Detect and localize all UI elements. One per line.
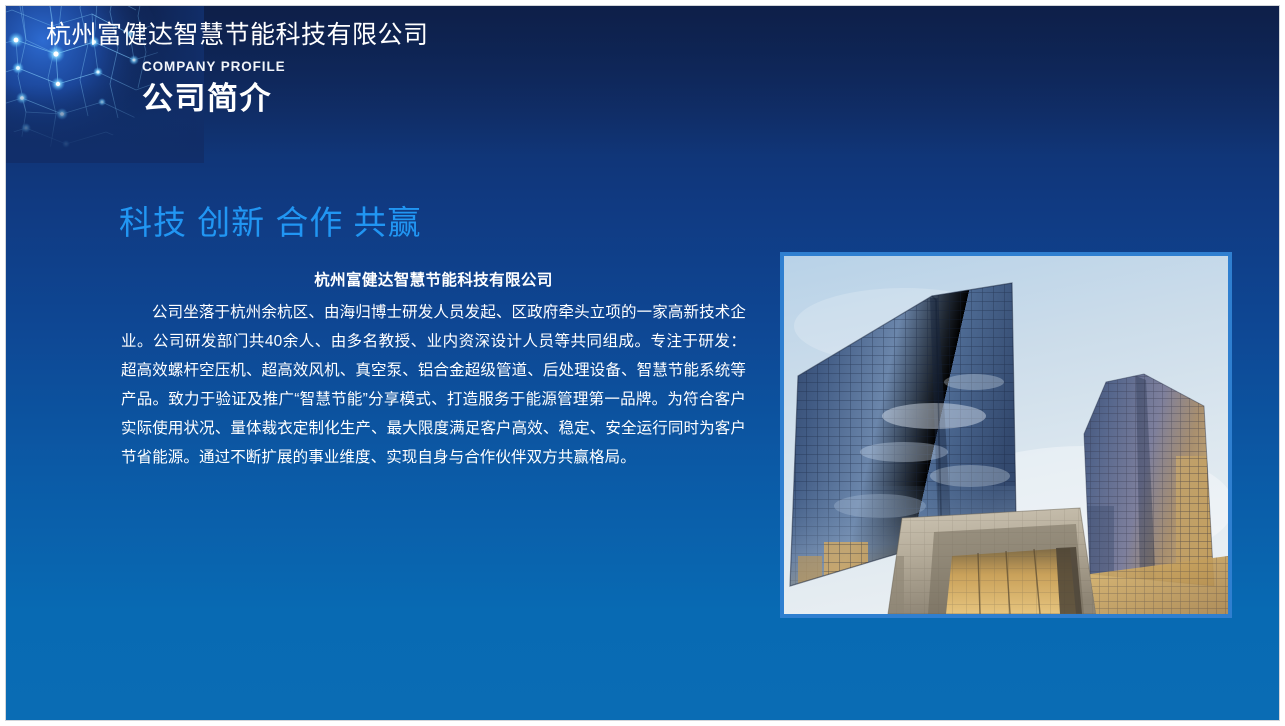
section-label-english: COMPANY PROFILE [142,59,746,75]
header-block: 杭州富健达智慧节能科技有限公司 COMPANY PROFILE 公司简介 [46,20,746,118]
building-photo-artwork [784,256,1228,614]
building-photo [780,252,1232,618]
slide-canvas: 杭州富健达智慧节能科技有限公司 COMPANY PROFILE 公司简介 科技 … [5,5,1280,721]
tagline-slogan: 科技 创新 合作 共赢 [119,202,422,244]
section-label-chinese: 公司简介 [142,80,746,118]
body-company-heading: 杭州富健达智慧节能科技有限公司 [121,268,746,294]
company-name-title: 杭州富健达智慧节能科技有限公司 [46,20,746,50]
body-description-paragraph: 公司坐落于杭州余杭区、由海归博士研发人员发起、区政府牵头立项的一家高新技术企业。… [121,298,746,472]
body-text-column: 杭州富健达智慧节能科技有限公司 公司坐落于杭州余杭区、由海归博士研发人员发起、区… [121,268,746,472]
